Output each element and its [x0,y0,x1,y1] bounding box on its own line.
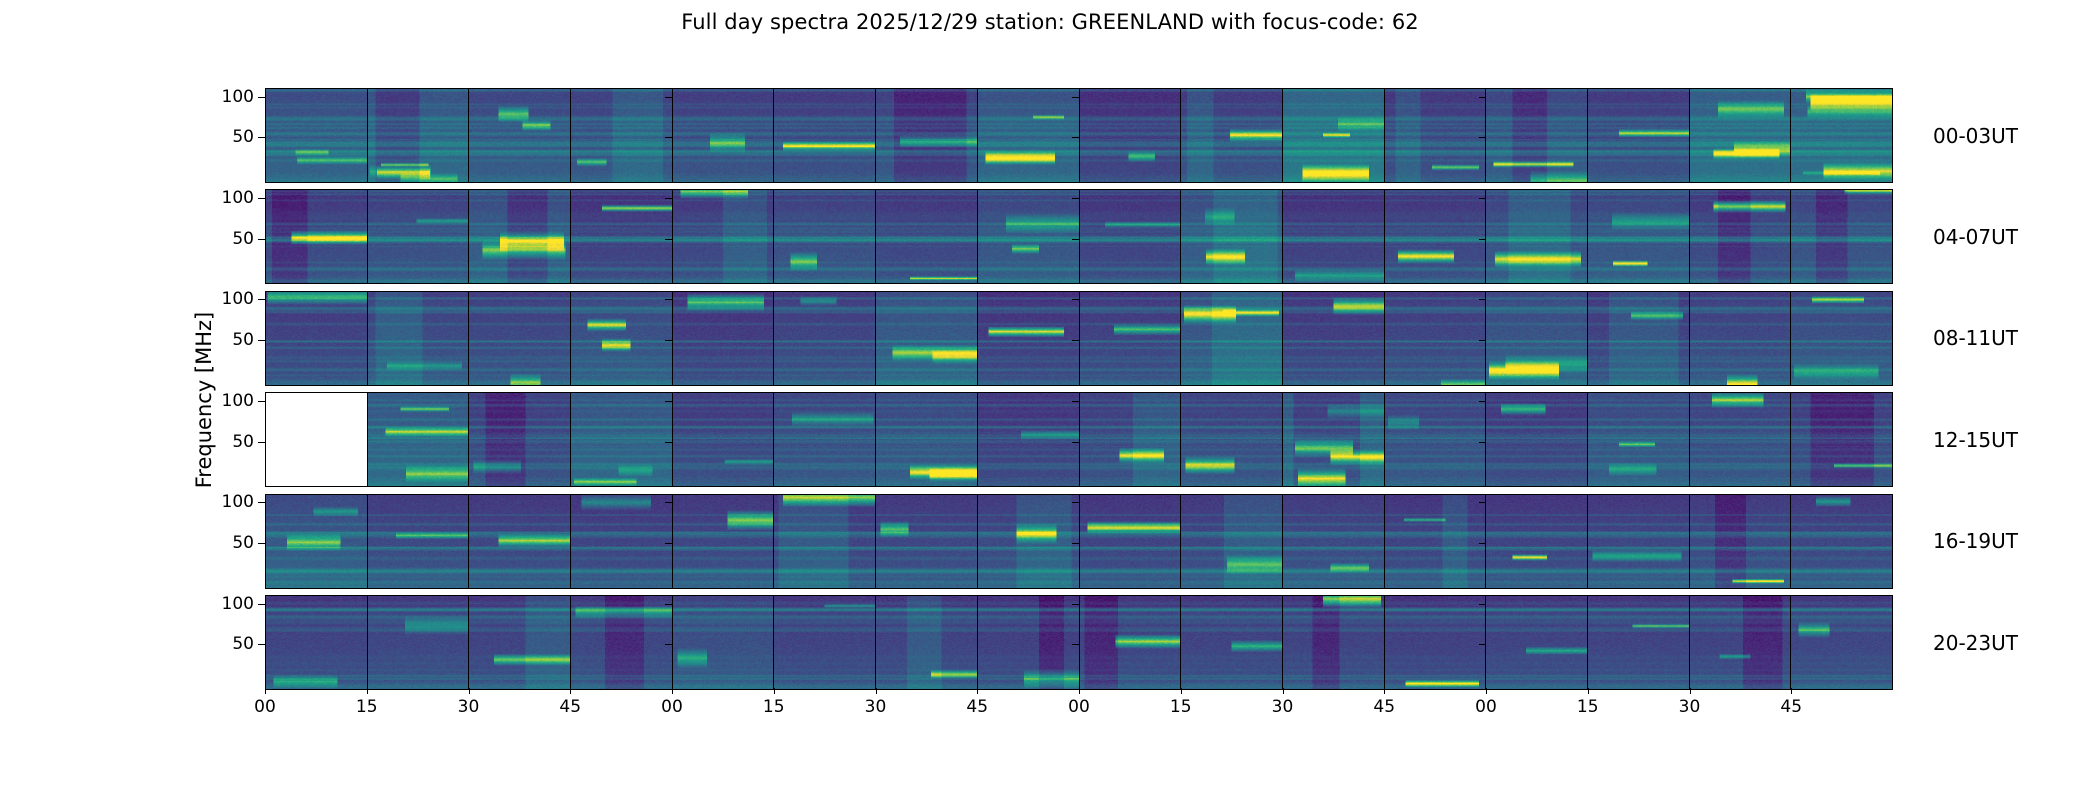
panel-canvas [1181,393,1282,486]
y-inner-tick [1479,442,1486,443]
spectrogram-panel[interactable] [1588,89,1690,182]
spectrogram-panel[interactable] [673,393,775,486]
panel-canvas [571,190,672,283]
panel-canvas [673,190,774,283]
spectrogram-panel[interactable] [774,393,876,486]
spectrogram-row: 1005008-11UT [265,291,1893,386]
spectrogram-panel[interactable] [1080,393,1182,486]
panel-canvas [673,596,774,689]
panel-canvas [1385,393,1486,486]
spectrogram-panel[interactable] [1283,495,1385,588]
spectrogram-panel[interactable] [1181,190,1283,283]
row-time-label: 00-03UT [1893,124,2018,148]
x-tick-label: 00 [254,697,276,717]
y-inner-tick [665,198,672,199]
spectrogram-panel[interactable] [1080,292,1182,385]
spectrogram-panel[interactable] [1690,393,1792,486]
y-tick-label: 100 [222,289,254,309]
row-plot-area[interactable] [265,392,1893,487]
y-inner-tick [1479,401,1486,402]
y-axis-label-text: Frequency [MHz] [192,312,216,488]
panel-canvas [876,495,977,588]
panel-canvas [876,292,977,385]
y-axis-label: Frequency [MHz] [186,0,222,800]
panel-canvas [1080,292,1181,385]
spectrogram-panel[interactable] [774,190,876,283]
y-inner-tick [665,442,672,443]
y-inner-tick [665,137,672,138]
panel-canvas [1181,190,1282,283]
x-tick-label: 15 [1170,697,1192,717]
spectrogram-panel[interactable] [876,495,978,588]
panel-canvas [469,292,570,385]
spectrogram-panel[interactable] [876,190,978,283]
panel-canvas [1080,495,1181,588]
panel-canvas [571,89,672,182]
spectrogram-panel[interactable] [1791,89,1892,182]
spectrogram-panel[interactable] [876,292,978,385]
panel-canvas [368,89,469,182]
spectrogram-panel[interactable] [774,292,876,385]
panel-canvas [673,495,774,588]
panel-canvas [1791,292,1892,385]
spectrogram-panel[interactable] [1080,596,1182,689]
panel-canvas [1283,292,1384,385]
y-tick-mark [258,502,265,503]
row-plot-area[interactable] [265,595,1893,690]
y-tick-mark [258,137,265,138]
spectrogram-panel[interactable] [978,495,1080,588]
row-plot-area[interactable] [265,88,1893,183]
spectrogram-panel[interactable] [266,190,368,283]
spectrogram-panel[interactable] [1283,89,1385,182]
y-tick-mark [258,604,265,605]
y-tick-label: 50 [232,330,254,350]
spectrogram-panel[interactable] [876,89,978,182]
panel-canvas [368,495,469,588]
spectrogram-panel[interactable] [1588,495,1690,588]
panel-canvas [876,89,977,182]
spectrogram-panel[interactable] [571,89,673,182]
x-tick-label: 45 [1373,697,1395,717]
row-time-label: 20-23UT [1893,631,2018,655]
spectrogram-panel[interactable] [1791,393,1892,486]
panel-canvas [571,393,672,486]
y-tick-label: 100 [222,594,254,614]
panel-canvas [1283,495,1384,588]
panel-canvas [978,495,1079,588]
spectrogram-panel[interactable] [1385,89,1487,182]
x-tick-label: 45 [1780,697,1802,717]
y-tick-mark [258,644,265,645]
panel-canvas [876,190,977,283]
panel-canvas [1385,292,1486,385]
row-plot-area[interactable] [265,291,1893,386]
panel-canvas [1588,292,1689,385]
panel-canvas [1283,190,1384,283]
panel-canvas [1080,596,1181,689]
spectrogram-panel[interactable] [368,292,470,385]
panel-canvas [1791,393,1892,486]
panel-canvas [673,393,774,486]
spectrogram-panel[interactable] [1690,495,1792,588]
spectrogram-panel[interactable] [571,190,673,283]
panel-canvas [978,393,1079,486]
y-inner-tick [1479,97,1486,98]
panel-canvas [368,292,469,385]
spectrogram-panel[interactable] [571,495,673,588]
panel-canvas [469,393,570,486]
row-plot-area[interactable] [265,494,1893,589]
spectrogram-panel[interactable] [1690,190,1792,283]
row-time-label: 16-19UT [1893,529,2018,553]
y-inner-tick [665,97,672,98]
y-inner-tick [1072,137,1079,138]
panel-canvas [266,596,367,689]
row-time-label: 04-07UT [1893,225,2018,249]
spectrogram-panel[interactable] [1385,190,1487,283]
spectrogram-row: 1005020-23UT [265,595,1893,690]
spectrogram-panel[interactable] [1791,596,1892,689]
panel-canvas [1690,495,1791,588]
y-inner-tick [665,604,672,605]
spectrogram-panel[interactable] [1283,596,1385,689]
panel-canvas [1791,596,1892,689]
x-tick-mark [265,688,266,694]
panel-canvas [469,89,570,182]
spectrogram-panel[interactable] [1791,190,1892,283]
y-tick-mark [258,299,265,300]
panel-canvas [1486,495,1587,588]
spectrogram-panel[interactable] [1385,393,1487,486]
y-inner-tick [665,502,672,503]
x-tick-label: 15 [763,697,785,717]
y-inner-tick [665,299,672,300]
spectrogram-row: 1005016-19UT [265,494,1893,589]
panel-canvas [368,596,469,689]
spectrogram-panel[interactable] [368,393,470,486]
spectrogram-panel[interactable] [266,495,368,588]
panel-canvas [1181,596,1282,689]
spectrogram-panel[interactable] [1588,292,1690,385]
panel-canvas [1385,190,1486,283]
panel-canvas [1181,292,1282,385]
spectrogram-panel[interactable] [469,393,571,486]
y-tick-label: 50 [232,432,254,452]
panel-canvas [469,495,570,588]
spectrogram-panel[interactable] [469,89,571,182]
panel-canvas [1588,596,1689,689]
spectrogram-panel[interactable] [368,190,470,283]
x-tick-label: 15 [356,697,378,717]
spectrogram-panel[interactable] [1588,596,1690,689]
x-tick-mark [1690,688,1691,694]
spectrogram-panel[interactable] [571,393,673,486]
spectrogram-panel[interactable] [1181,292,1283,385]
panel-canvas [266,190,367,283]
spectrogram-panel[interactable] [1080,190,1182,283]
panel-canvas [266,292,367,385]
x-tick-mark [977,688,978,694]
spectrogram-panel[interactable] [266,393,368,486]
panel-canvas [774,495,875,588]
panel-canvas [978,292,1079,385]
x-tick-mark [367,688,368,694]
x-tick-label: 30 [458,697,480,717]
spectrogram-panel[interactable] [469,495,571,588]
panel-stack: 1005000-03UT1005004-07UT1005008-11UT1005… [265,88,1893,688]
spectrogram-row: 1005004-07UT [265,189,1893,284]
y-inner-tick [1479,340,1486,341]
y-inner-tick [1072,198,1079,199]
panel-canvas [1588,393,1689,486]
spectrogram-panel[interactable] [1486,495,1588,588]
row-time-label: 08-11UT [1893,326,2018,350]
x-tick-mark [1588,688,1589,694]
x-tick-mark [1283,688,1284,694]
spectrogram-panel[interactable] [1385,292,1487,385]
panel-canvas [1385,596,1486,689]
y-tick-label: 50 [232,229,254,249]
x-tick-mark [774,688,775,694]
spectrogram-panel[interactable] [673,495,775,588]
spectrogram-panel[interactable] [978,596,1080,689]
y-inner-tick [1479,137,1486,138]
x-tick-label: 15 [1577,697,1599,717]
panel-canvas [1791,190,1892,283]
y-tick-mark [258,340,265,341]
spectrogram-panel[interactable] [1385,495,1487,588]
spectrogram-panel[interactable] [1181,596,1283,689]
panel-canvas [1486,393,1587,486]
y-inner-tick [1072,239,1079,240]
y-inner-tick [1072,340,1079,341]
spectrogram-panel[interactable] [774,495,876,588]
spectrogram-panel[interactable] [673,89,775,182]
spectrogram-panel[interactable] [1486,89,1588,182]
spectrogram-panel[interactable] [1080,495,1182,588]
y-inner-tick [1479,543,1486,544]
panel-canvas [469,596,570,689]
panel-canvas [673,292,774,385]
y-tick-label: 50 [232,634,254,654]
panel-canvas [1486,190,1587,283]
spectrogram-panel[interactable] [1690,596,1792,689]
x-tick-label: 45 [559,697,581,717]
y-tick-mark [258,97,265,98]
y-tick-label: 50 [232,127,254,147]
panel-canvas [1080,190,1181,283]
y-tick-label: 100 [222,188,254,208]
y-inner-tick [1072,97,1079,98]
spectrogram-row: 1005012-15UT [265,392,1893,487]
spectrogram-panel[interactable] [1181,393,1283,486]
y-inner-tick [1479,644,1486,645]
y-tick-mark [258,239,265,240]
spectrogram-panel[interactable] [1181,89,1283,182]
panel-canvas [774,393,875,486]
y-tick-label: 100 [222,492,254,512]
spectrogram-panel[interactable] [1690,292,1792,385]
spectrogram-panel[interactable] [266,89,368,182]
panel-canvas [774,190,875,283]
panel-canvas [571,495,672,588]
y-inner-tick [665,239,672,240]
panel-canvas [1588,89,1689,182]
spectrogram-panel[interactable] [978,190,1080,283]
panel-canvas [1690,89,1791,182]
spectrogram-panel[interactable] [876,393,978,486]
spectrogram-panel[interactable] [266,596,368,689]
spectrogram-panel[interactable] [876,596,978,689]
x-tick-label: 30 [865,697,887,717]
panel-canvas [978,89,1079,182]
x-tick-mark [570,688,571,694]
x-tick-mark [1486,688,1487,694]
spectrogram-panel[interactable] [1486,190,1588,283]
y-inner-tick [1479,299,1486,300]
panel-canvas [1690,393,1791,486]
panel-canvas [978,190,1079,283]
panel-canvas [1385,89,1486,182]
row-plot-area[interactable] [265,189,1893,284]
x-tick-label: 30 [1679,697,1701,717]
panel-canvas [1181,89,1282,182]
y-tick-mark [258,401,265,402]
panel-canvas [978,596,1079,689]
spectrogram-panel[interactable] [1283,190,1385,283]
panel-canvas [571,596,672,689]
y-inner-tick [665,340,672,341]
spectrogram-panel[interactable] [1486,292,1588,385]
y-inner-tick [665,543,672,544]
spectrogram-panel[interactable] [1791,495,1892,588]
spectrogram-panel[interactable] [673,596,775,689]
panel-canvas [1690,596,1791,689]
panel-canvas [774,89,875,182]
y-inner-tick [665,644,672,645]
y-tick-mark [258,543,265,544]
y-inner-tick [1072,299,1079,300]
spectrogram-panel[interactable] [673,292,775,385]
x-tick-mark [672,688,673,694]
y-inner-tick [1479,502,1486,503]
x-tick-label: 00 [661,697,683,717]
y-inner-tick [1479,604,1486,605]
panel-canvas [469,190,570,283]
y-tick-label: 100 [222,87,254,107]
panel-canvas [876,596,977,689]
panel-canvas [876,393,977,486]
panel-canvas [774,292,875,385]
spectrogram-panel[interactable] [1080,89,1182,182]
spectrogram-panel[interactable] [1588,190,1690,283]
panel-canvas [368,190,469,283]
x-tick-label: 30 [1272,697,1294,717]
y-inner-tick [1072,604,1079,605]
x-tick-mark [1079,688,1080,694]
spectrogram-panel[interactable] [469,596,571,689]
spectrogram-panel[interactable] [1283,292,1385,385]
y-tick-label: 50 [232,533,254,553]
spectrogram-panel[interactable] [1385,596,1487,689]
spectrogram-figure: Full day spectra 2025/12/29 station: GRE… [0,0,2100,800]
panel-canvas [673,89,774,182]
spectrogram-panel[interactable] [469,190,571,283]
y-inner-tick [665,401,672,402]
spectrogram-panel[interactable] [978,393,1080,486]
y-inner-tick [1479,239,1486,240]
y-inner-tick [1072,442,1079,443]
panel-canvas [1791,495,1892,588]
panel-canvas [571,292,672,385]
spectrogram-panel[interactable] [469,292,571,385]
figure-title: Full day spectra 2025/12/29 station: GRE… [0,10,2100,34]
panel-canvas [1588,190,1689,283]
x-tick-mark [469,688,470,694]
x-tick-label: 00 [1475,697,1497,717]
spectrogram-panel[interactable] [1486,596,1588,689]
panel-canvas [1283,89,1384,182]
x-tick-mark [1791,688,1792,694]
spectrogram-panel[interactable] [368,495,470,588]
y-tick-label: 100 [222,391,254,411]
spectrogram-panel[interactable] [673,190,775,283]
x-tick-mark [1181,688,1182,694]
spectrogram-panel[interactable] [1486,393,1588,486]
panel-canvas [1080,89,1181,182]
spectrogram-panel[interactable] [571,596,673,689]
panel-canvas [368,393,469,486]
spectrogram-panel[interactable] [774,596,876,689]
y-inner-tick [1479,198,1486,199]
spectrogram-panel[interactable] [1791,292,1892,385]
panel-canvas [1486,292,1587,385]
y-inner-tick [1072,502,1079,503]
panel-canvas [1690,190,1791,283]
y-tick-mark [258,198,265,199]
panel-canvas [266,89,367,182]
panel-canvas [1385,495,1486,588]
panel-canvas [1791,89,1892,182]
spectrogram-panel[interactable] [1588,393,1690,486]
panel-canvas [1486,596,1587,689]
panel-canvas [774,596,875,689]
row-time-label: 12-15UT [1893,428,2018,452]
panel-canvas [266,495,367,588]
spectrogram-panel[interactable] [1181,495,1283,588]
spectrogram-panel[interactable] [266,292,368,385]
spectrogram-panel[interactable] [774,89,876,182]
x-axis: 00153045001530450015304500153045 [265,688,1893,728]
panel-canvas [1283,596,1384,689]
spectrogram-panel[interactable] [1690,89,1792,182]
spectrogram-panel[interactable] [571,292,673,385]
spectrogram-panel[interactable] [978,292,1080,385]
spectrogram-panel[interactable] [368,89,470,182]
y-inner-tick [1072,644,1079,645]
y-inner-tick [1072,543,1079,544]
x-tick-label: 45 [966,697,988,717]
panel-canvas [1080,393,1181,486]
panel-canvas [1486,89,1587,182]
panel-canvas [1588,495,1689,588]
spectrogram-panel[interactable] [368,596,470,689]
spectrogram-panel[interactable] [1283,393,1385,486]
spectrogram-row: 1005000-03UT [265,88,1893,183]
spectrogram-panel[interactable] [978,89,1080,182]
x-tick-mark [876,688,877,694]
